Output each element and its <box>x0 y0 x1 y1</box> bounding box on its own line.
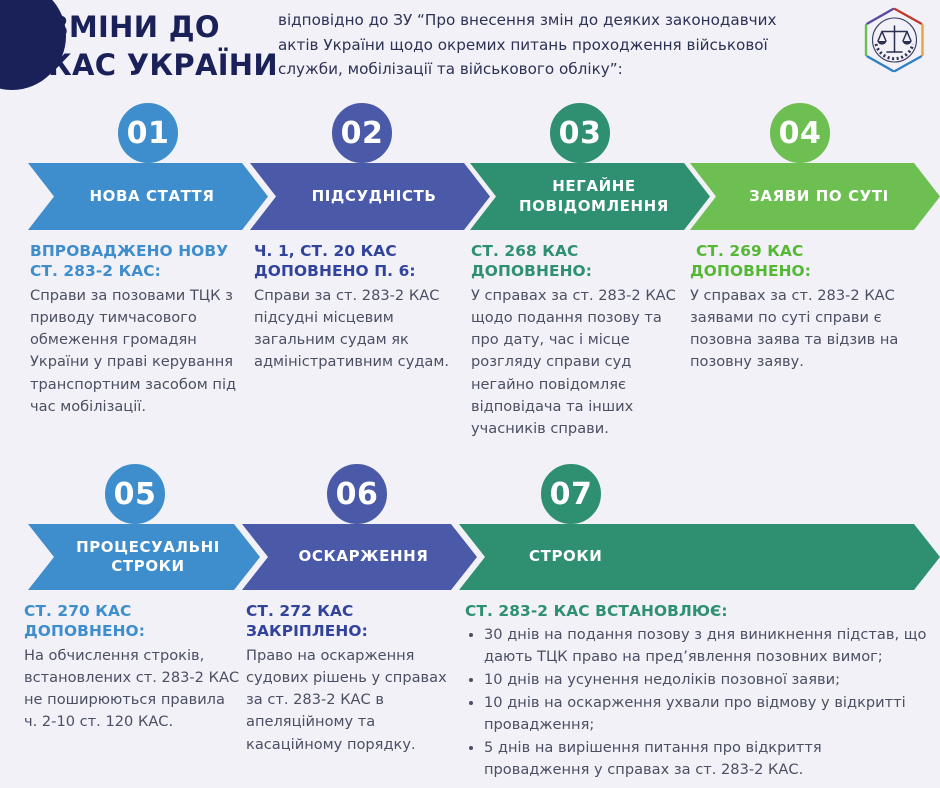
page-title-line-1: ЗМІНИ ДО <box>48 8 278 46</box>
step-body-06: Право на оскарження судових рішень у спр… <box>246 645 454 756</box>
step-chevron-04-label: ЗАЯВИ ПО СУТІ <box>749 187 889 206</box>
step-text-05: СТ. 270 КАС ДОПОВНЕНО: На обчислення стр… <box>24 601 240 734</box>
step-text-04: СТ. 269 КАС ДОПОВНЕНО: У справах за ст. … <box>690 241 900 374</box>
step-chevron-03-label: НЕГАЙНЕ ПОВІДОМЛЕННЯ <box>519 177 669 215</box>
page-subtitle-line-2: актів України щодо окремих питань проход… <box>278 33 848 58</box>
list-item: 10 днів на усунення недоліків позовної з… <box>484 669 930 691</box>
step-text-07: СТ. 283-2 КАС ВСТАНОВЛЮЄ: 30 днів на под… <box>465 601 930 782</box>
step-body-04: У справах за ст. 283-2 КАС заявами по су… <box>690 285 900 374</box>
page-subtitle-line-3: служби, мобілізації та військового облік… <box>278 57 848 82</box>
step-heading-06: СТ. 272 КАС ЗАКРІПЛЕНО: <box>246 601 454 642</box>
step-chevron-02-label: ПІДСУДНІСТЬ <box>312 187 437 206</box>
step-body-01: Справи за позовами ТЦК з приводу тимчасо… <box>30 285 245 418</box>
step-text-03: СТ. 268 КАС ДОПОВНЕНО: У справах за ст. … <box>471 241 676 440</box>
step-badge-02: 02 <box>327 98 397 168</box>
list-item: 30 днів на подання позову з дня виникнен… <box>484 624 930 668</box>
step-chevron-05[interactable]: ПРОЦЕСУАЛЬНІ СТРОКИ <box>28 524 260 590</box>
step-chevron-01[interactable]: НОВА СТАТТЯ <box>28 163 268 230</box>
step-badge-01: 01 <box>113 98 183 168</box>
step-badge-03: 03 <box>545 98 615 168</box>
step-badge-06: 06 <box>322 459 392 529</box>
step-badge-04: 04 <box>765 98 835 168</box>
step-text-06: СТ. 272 КАС ЗАКРІПЛЕНО: Право на оскарже… <box>246 601 454 756</box>
step-chevron-02[interactable]: ПІДСУДНІСТЬ <box>250 163 490 230</box>
infographic-page: ЗМІНИ ДО КАС УКРАЇНИ відповідно до ЗУ “П… <box>0 0 940 788</box>
scales-of-justice-emblem <box>858 4 932 78</box>
step-heading-01: ВПРОВАДЖЕНО НОВУ СТ. 283-2 КАС: <box>30 241 245 282</box>
step-body-05: На обчислення строків, встановлених ст. … <box>24 645 240 734</box>
step-chevron-07[interactable]: СТРОКИ <box>459 524 940 590</box>
step-heading-02: Ч. 1, СТ. 20 КАС ДОПОВНЕНО П. 6: <box>254 241 466 282</box>
page-title: ЗМІНИ ДО КАС УКРАЇНИ <box>48 8 278 85</box>
page-subtitle: відповідно до ЗУ “Про внесення змін до д… <box>278 8 848 82</box>
step-badge-05: 05 <box>100 459 170 529</box>
step-chevron-07-label: СТРОКИ <box>529 547 602 566</box>
step-heading-03: СТ. 268 КАС ДОПОВНЕНО: <box>471 241 676 282</box>
step-chevron-06-label: ОСКАРЖЕННЯ <box>299 547 429 566</box>
step-text-01: ВПРОВАДЖЕНО НОВУ СТ. 283-2 КАС: Справи з… <box>30 241 245 418</box>
step-bullet-list-07: 30 днів на подання позову з дня виникнен… <box>465 624 930 780</box>
page-subtitle-line-1: відповідно до ЗУ “Про внесення змін до д… <box>278 8 848 33</box>
step-chevron-01-label: НОВА СТАТТЯ <box>89 187 214 206</box>
step-chevron-04[interactable]: ЗАЯВИ ПО СУТІ <box>690 163 940 230</box>
step-heading-05: СТ. 270 КАС ДОПОВНЕНО: <box>24 601 240 642</box>
step-badge-07: 07 <box>536 459 606 529</box>
page-title-line-2: КАС УКРАЇНИ <box>48 46 278 84</box>
step-heading-07: СТ. 283-2 КАС ВСТАНОВЛЮЄ: <box>465 601 930 621</box>
step-heading-04: СТ. 269 КАС ДОПОВНЕНО: <box>690 241 900 282</box>
step-body-02: Справи за ст. 283-2 КАС підсудні місцеви… <box>254 285 466 374</box>
list-item: 10 днів на оскарження ухвали про відмову… <box>484 692 930 736</box>
step-chevron-06[interactable]: ОСКАРЖЕННЯ <box>242 524 477 590</box>
step-text-02: Ч. 1, СТ. 20 КАС ДОПОВНЕНО П. 6: Справи … <box>254 241 466 374</box>
step-chevron-03[interactable]: НЕГАЙНЕ ПОВІДОМЛЕННЯ <box>470 163 710 230</box>
list-item: 5 днів на вирішення питання про відкритт… <box>484 737 930 781</box>
step-body-03: У справах за ст. 283-2 КАС щодо подання … <box>471 285 676 440</box>
step-chevron-05-label: ПРОЦЕСУАЛЬНІ СТРОКИ <box>76 538 220 576</box>
